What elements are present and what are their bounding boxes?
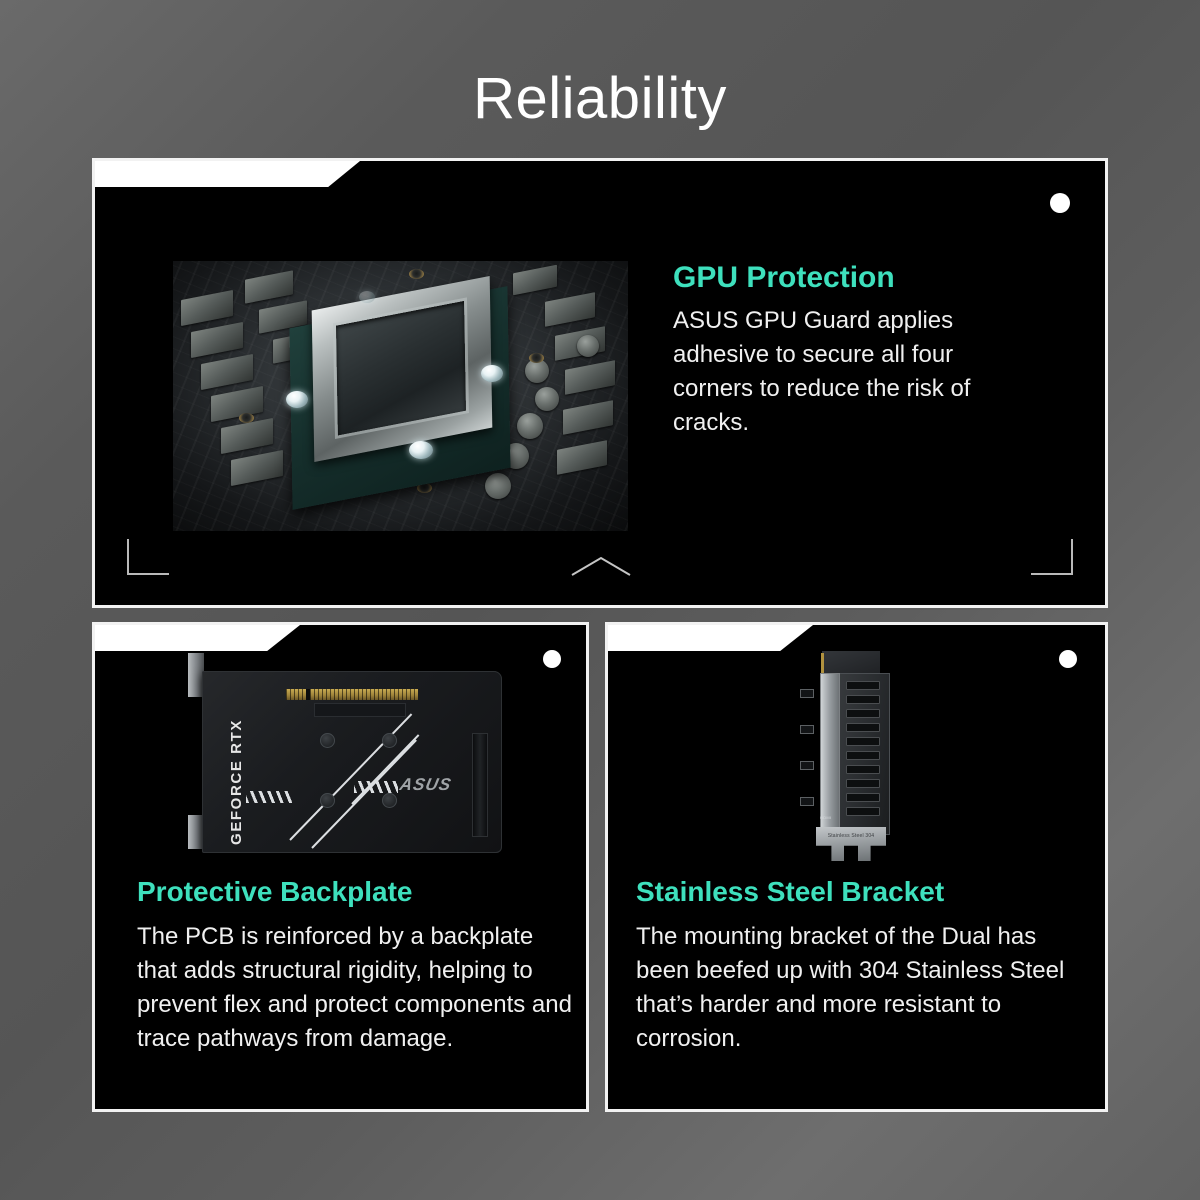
card-banner-decoration — [95, 161, 360, 187]
adhesive-blob — [409, 441, 433, 459]
displayport-connector — [800, 761, 814, 770]
asus-logo: ASUS — [398, 775, 453, 795]
backplate-brand-text: GEFORCE RTX — [228, 719, 245, 845]
backplate-vent-slot — [472, 733, 488, 837]
backplate-image: GEFORCE RTX ASUS — [180, 653, 522, 863]
status-dot-icon — [543, 650, 561, 668]
displayport-connector — [800, 689, 814, 698]
chevron-up-icon — [570, 555, 632, 577]
card-title-stainless-steel-bracket: Stainless Steel Bracket — [636, 877, 944, 908]
status-dot-icon — [1059, 650, 1077, 668]
gpu-die-image — [173, 261, 628, 531]
hdmi-connector — [800, 797, 814, 806]
card-title-gpu-protection: GPU Protection — [673, 261, 895, 294]
io-bracket-image: HDMI Stainless Steel 304 — [794, 645, 912, 865]
corner-bracket-bottom-right-icon — [1031, 539, 1073, 575]
displayport-connector — [800, 725, 814, 734]
status-dot-icon — [1050, 193, 1070, 213]
card-protective-backplate: GEFORCE RTX ASUS Protective Backplate Th… — [92, 622, 589, 1112]
adhesive-blob — [286, 391, 308, 408]
card-body-gpu-protection: ASUS GPU Guard applies adhesive to secur… — [673, 304, 1013, 440]
backplate-body: GEFORCE RTX ASUS — [202, 671, 502, 853]
card-body-stainless-steel-bracket: The mounting bracket of the Dual has bee… — [636, 920, 1076, 1056]
card-stainless-steel-bracket: HDMI Stainless Steel 304 Stainless Steel… — [605, 622, 1108, 1112]
corner-bracket-bottom-left-icon — [127, 539, 169, 575]
gpu-die-surface — [336, 301, 466, 435]
card-title-protective-backplate: Protective Backplate — [137, 877, 412, 908]
page-title: Reliability — [0, 70, 1200, 128]
card-body-protective-backplate: The PCB is reinforced by a backplate tha… — [137, 920, 577, 1056]
card-banner-decoration — [608, 625, 813, 651]
card-banner-decoration — [95, 625, 300, 651]
card-gpu-protection: GPU Protection ASUS GPU Guard applies ad… — [92, 158, 1108, 608]
adhesive-blob — [359, 291, 375, 303]
bracket-material-label: Stainless Steel 304 — [818, 833, 884, 839]
hdmi-port-label: HDMI — [820, 815, 831, 820]
bracket-plate — [820, 673, 840, 835]
adhesive-blob — [481, 365, 503, 382]
